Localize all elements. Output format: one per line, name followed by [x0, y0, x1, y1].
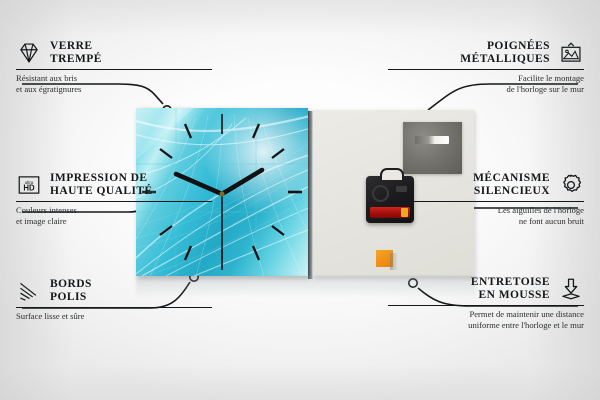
polished-edges-icon [16, 278, 42, 304]
infographic-canvas: VERRE TREMPÉ Résistant aux bris et aux é… [0, 0, 600, 400]
callout-rule [16, 201, 212, 202]
callout-title-line2: SILENCIEUX [473, 185, 550, 198]
callout-poignees-metalliques[interactable]: POIGNÉES MÉTALLIQUES Facilite le montage… [388, 40, 584, 95]
callout-title-line1: POIGNÉES [460, 40, 550, 53]
callout-title-line2: MÉTALLIQUES [460, 53, 550, 66]
callout-title-line2: EN MOUSSE [471, 289, 550, 302]
callout-subtitle-line1: Permet de maintenir une distance [388, 309, 584, 320]
callout-subtitle-line2: ne font aucun bruit [388, 216, 584, 227]
callout-verre-trempe[interactable]: VERRE TREMPÉ Résistant aux bris et aux é… [16, 40, 212, 95]
callout-subtitle-line1: Couleurs intenses [16, 205, 212, 216]
callout-title-line1: MÉCANISME [473, 172, 550, 185]
callout-subtitle-line1: Facilite le montage [388, 73, 584, 84]
wall-mount-frame-icon [558, 40, 584, 66]
foam-spacer [376, 250, 393, 267]
callout-title-line1: BORDS [50, 278, 92, 291]
callout-rule [388, 305, 584, 306]
callout-title-line1: IMPRESSION DE [50, 172, 153, 185]
callout-subtitle-line1: Résistant aux bris [16, 73, 212, 84]
callout-subtitle-line2: et image claire [16, 216, 212, 227]
callout-rule [16, 307, 212, 308]
foam-spacer-arrow-icon [558, 276, 584, 302]
callout-title-line2: TREMPÉ [50, 53, 102, 66]
mechanism-dial [372, 185, 389, 202]
callout-subtitle-line2: et aux égratignures [16, 84, 212, 95]
callout-bords-polis[interactable]: BORDS POLIS Surface lisse et sûre [16, 278, 212, 322]
ultra-hd-icon: ultra HD [16, 172, 42, 198]
callout-subtitle-line2: uniforme entre l'horloge et le mur [388, 320, 584, 331]
callout-title-line2: HAUTE QUALITÉ [50, 185, 153, 198]
callout-subtitle-line1: Surface lisse et sûre [16, 311, 212, 322]
diamond-icon [16, 40, 42, 66]
hanger-slot [415, 136, 449, 144]
callout-title-line1: VERRE [50, 40, 102, 53]
svg-text:HD: HD [23, 184, 35, 193]
callout-subtitle-line2: de l'horloge sur le mur [388, 84, 584, 95]
callout-rule [388, 201, 584, 202]
gear-icon [558, 172, 584, 198]
callout-mecanisme-silencieux[interactable]: MÉCANISME SILENCIEUX Les aiguilles de l'… [388, 172, 584, 227]
callout-rule [16, 69, 212, 70]
callout-subtitle-line1: Les aiguilles de l'horloge [388, 205, 584, 216]
metal-hanger-plate [403, 122, 462, 174]
callout-rule [388, 69, 584, 70]
callout-title-line1: ENTRETOISE [471, 276, 550, 289]
callout-impression-haute-qualite[interactable]: ultra HD IMPRESSION DE HAUTE QUALITÉ Cou… [16, 172, 212, 227]
callout-title-line2: POLIS [50, 291, 92, 304]
callout-entretoise-en-mousse[interactable]: ENTRETOISE EN MOUSSE Permet de maintenir… [388, 276, 584, 331]
